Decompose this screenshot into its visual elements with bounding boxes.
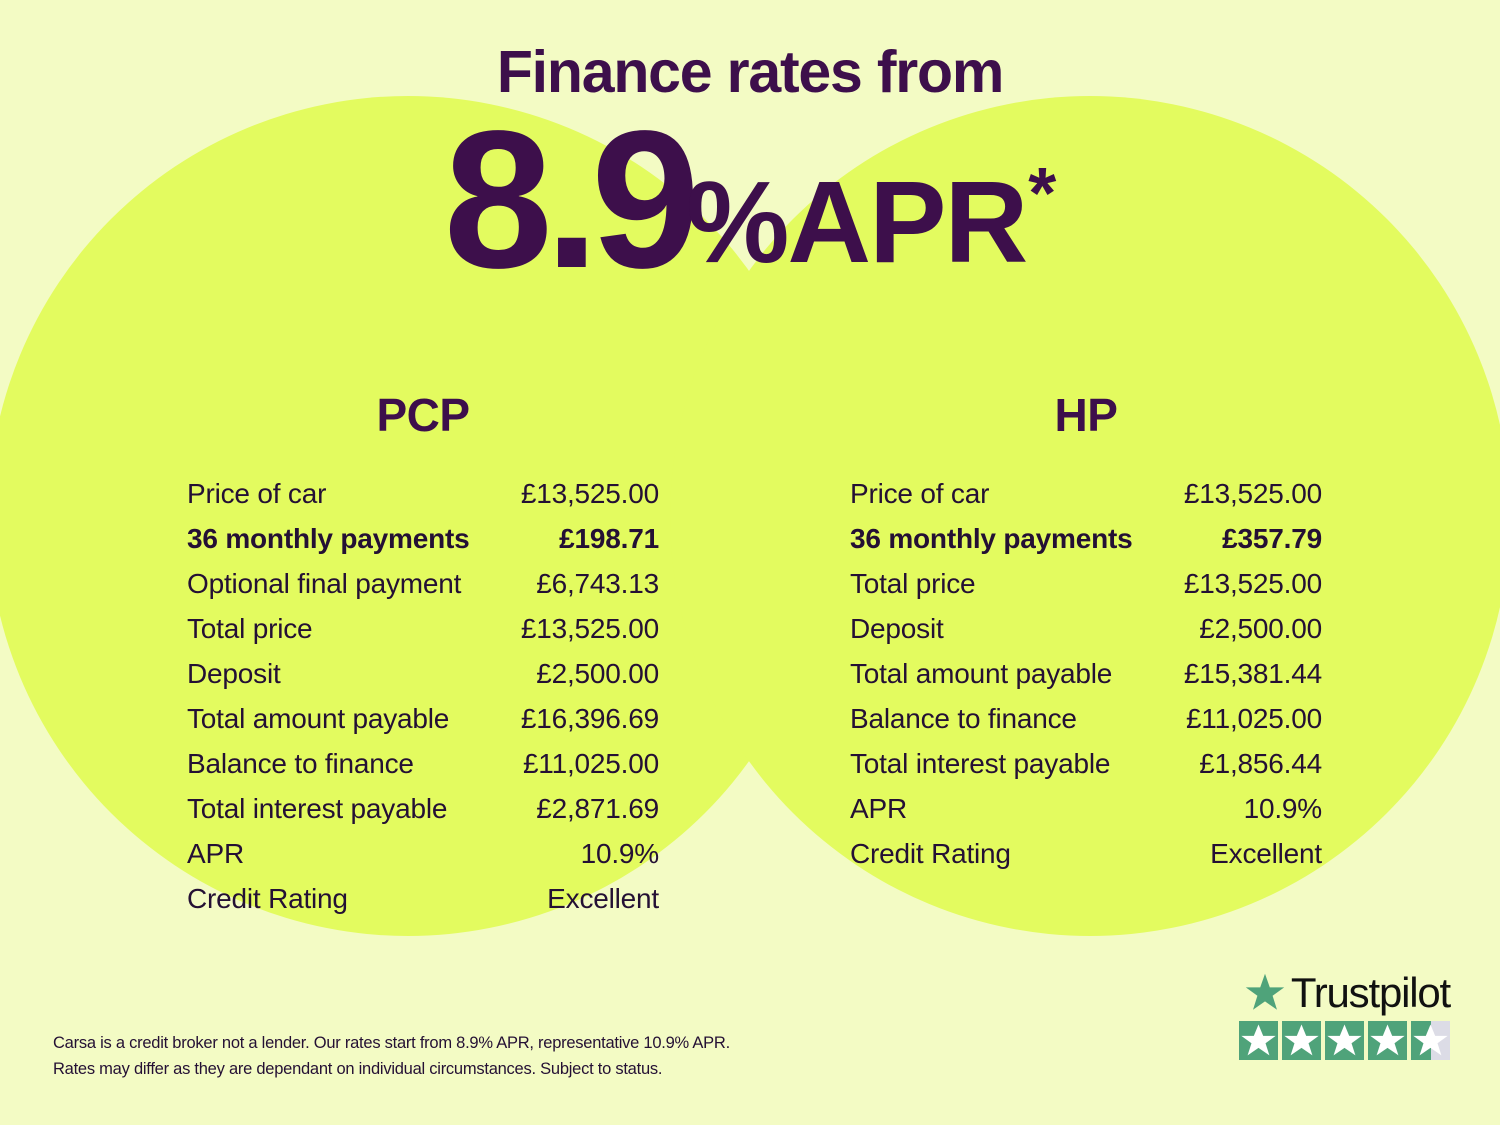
finance-row-label: Credit Rating — [850, 838, 1011, 870]
finance-row-label: Price of car — [187, 478, 326, 510]
trustpilot-star-icon — [1245, 973, 1285, 1013]
finance-row-value: £2,871.69 — [536, 793, 659, 825]
trustpilot-star-rating — [1239, 1021, 1450, 1060]
finance-row-value: £11,025.00 — [523, 748, 659, 780]
finance-row-label: 36 monthly payments — [187, 523, 470, 555]
finance-row-value: £198.71 — [559, 523, 659, 555]
finance-row: APR10.9% — [163, 838, 683, 883]
finance-row: Total interest payable£2,871.69 — [163, 793, 683, 838]
finance-row: Total amount payable£16,396.69 — [163, 703, 683, 748]
rate-asterisk: * — [1028, 158, 1056, 230]
trustpilot-star-full — [1282, 1021, 1321, 1060]
finance-row-value: £2,500.00 — [536, 658, 659, 690]
finance-row: Deposit£2,500.00 — [826, 613, 1346, 658]
finance-row-value: £2,500.00 — [1199, 613, 1322, 645]
finance-row-value: Excellent — [547, 883, 659, 915]
finance-row-value: 10.9% — [581, 838, 659, 870]
trustpilot-badge: Trustpilot — [1239, 972, 1450, 1060]
finance-row: Balance to finance£11,025.00 — [826, 703, 1346, 748]
finance-row-label: Optional final payment — [187, 568, 461, 600]
finance-row: 36 monthly payments£198.71 — [163, 523, 683, 568]
finance-row: Balance to finance£11,025.00 — [163, 748, 683, 793]
finance-row-value: Excellent — [1210, 838, 1322, 870]
trustpilot-star-full — [1368, 1021, 1407, 1060]
disclaimer-line-1: Carsa is a credit broker not a lender. O… — [53, 1031, 853, 1057]
star-glyph-icon — [1368, 1021, 1407, 1060]
finance-row: APR10.9% — [826, 793, 1346, 838]
headline-rate: 8.9 %APR * — [0, 108, 1500, 292]
finance-row-label: 36 monthly payments — [850, 523, 1133, 555]
finance-row-value: £357.79 — [1222, 523, 1322, 555]
star-glyph-icon — [1325, 1021, 1364, 1060]
finance-row-label: Total amount payable — [850, 658, 1112, 690]
finance-row-label: Total price — [850, 568, 975, 600]
finance-row-value: £13,525.00 — [1184, 568, 1322, 600]
finance-row-label: APR — [187, 838, 244, 870]
finance-row-value: £11,025.00 — [1186, 703, 1322, 735]
finance-row-label: APR — [850, 793, 907, 825]
finance-row-label: Total interest payable — [850, 748, 1110, 780]
finance-row-value: £6,743.13 — [536, 568, 659, 600]
finance-row: Total price£13,525.00 — [826, 568, 1346, 613]
finance-row-label: Balance to finance — [187, 748, 414, 780]
finance-row: Price of car£13,525.00 — [163, 478, 683, 523]
trustpilot-star-full — [1325, 1021, 1364, 1060]
table-heading-hp: HP — [826, 388, 1346, 442]
finance-rows-hp: Price of car£13,525.0036 monthly payment… — [826, 478, 1346, 883]
header: Finance rates from 8.9 %APR * — [0, 0, 1500, 292]
finance-row: Credit RatingExcellent — [826, 838, 1346, 883]
finance-row-label: Credit Rating — [187, 883, 348, 915]
finance-row-label: Deposit — [187, 658, 281, 690]
finance-row: 36 monthly payments£357.79 — [826, 523, 1346, 568]
finance-row: Price of car£13,525.00 — [826, 478, 1346, 523]
table-heading-pcp: PCP — [163, 388, 683, 442]
trustpilot-name: Trustpilot — [1291, 972, 1450, 1014]
finance-table-hp: HP Price of car£13,525.0036 monthly paym… — [826, 388, 1346, 883]
finance-row-label: Total interest payable — [187, 793, 447, 825]
finance-row-value: £16,396.69 — [521, 703, 659, 735]
finance-row: Credit RatingExcellent — [163, 883, 683, 928]
finance-row-label: Deposit — [850, 613, 944, 645]
finance-row: Optional final payment£6,743.13 — [163, 568, 683, 613]
finance-row-value: £1,856.44 — [1199, 748, 1322, 780]
disclaimer: Carsa is a credit broker not a lender. O… — [53, 1031, 853, 1082]
finance-row-label: Price of car — [850, 478, 989, 510]
finance-row-value: £13,525.00 — [521, 478, 659, 510]
finance-row-value: 10.9% — [1244, 793, 1322, 825]
finance-row-value: £15,381.44 — [1184, 658, 1322, 690]
finance-row-label: Total amount payable — [187, 703, 449, 735]
trustpilot-star-full — [1239, 1021, 1278, 1060]
star-glyph-icon — [1411, 1021, 1450, 1060]
page-title: Finance rates from — [0, 0, 1500, 102]
finance-rates-graphic: Finance rates from 8.9 %APR * PCP Price … — [0, 0, 1500, 1125]
finance-row-value: £13,525.00 — [1184, 478, 1322, 510]
disclaimer-line-2: Rates may differ as they are dependant o… — [53, 1057, 853, 1083]
star-glyph-icon — [1239, 1021, 1278, 1060]
finance-row-label: Balance to finance — [850, 703, 1077, 735]
star-glyph-icon — [1282, 1021, 1321, 1060]
rate-unit: %APR — [686, 164, 1026, 280]
finance-row: Total amount payable£15,381.44 — [826, 658, 1346, 703]
finance-row-value: £13,525.00 — [521, 613, 659, 645]
finance-row: Deposit£2,500.00 — [163, 658, 683, 703]
finance-rows-pcp: Price of car£13,525.0036 monthly payment… — [163, 478, 683, 928]
finance-table-pcp: PCP Price of car£13,525.0036 monthly pay… — [163, 388, 683, 928]
trustpilot-star-half — [1411, 1021, 1450, 1060]
finance-row: Total interest payable£1,856.44 — [826, 748, 1346, 793]
trustpilot-wordmark: Trustpilot — [1239, 972, 1450, 1014]
rate-number: 8.9 — [444, 108, 692, 292]
finance-row: Total price£13,525.00 — [163, 613, 683, 658]
finance-row-label: Total price — [187, 613, 312, 645]
